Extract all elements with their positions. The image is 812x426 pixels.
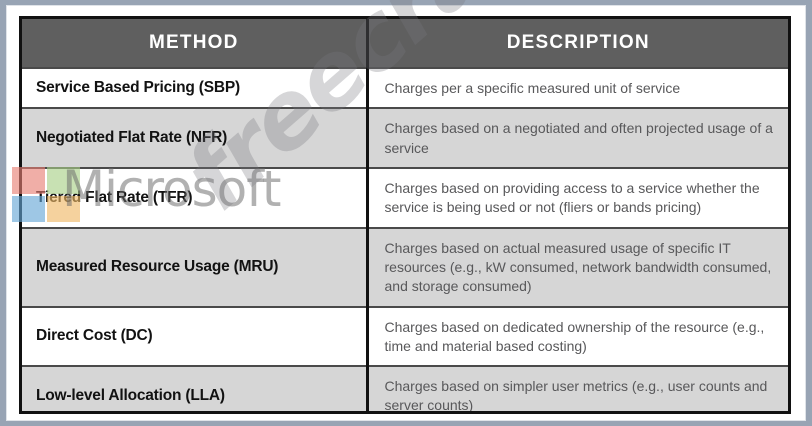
table-row: Negotiated Flat Rate (NFR)Charges based …	[22, 108, 788, 168]
description-cell: Charges based on dedicated ownership of …	[367, 307, 788, 367]
column-header-method: METHOD	[22, 19, 367, 68]
page-frame: METHOD DESCRIPTION Service Based Pricing…	[0, 0, 812, 426]
description-cell: Charges based on providing access to a s…	[367, 168, 788, 228]
table-row: Tiered Flat Rate (TFR)Charges based on p…	[22, 168, 788, 228]
method-cell: Tiered Flat Rate (TFR)	[22, 168, 367, 228]
description-cell: Charges based on simpler user metrics (e…	[367, 366, 788, 414]
method-cell: Direct Cost (DC)	[22, 307, 367, 367]
table-body: Service Based Pricing (SBP)Charges per a…	[22, 68, 788, 414]
column-header-description: DESCRIPTION	[367, 19, 788, 68]
method-cell: Service Based Pricing (SBP)	[22, 68, 367, 108]
method-cell: Low-level Allocation (LLA)	[22, 366, 367, 414]
methods-table-container: METHOD DESCRIPTION Service Based Pricing…	[19, 16, 791, 414]
document-sheet: METHOD DESCRIPTION Service Based Pricing…	[7, 6, 805, 420]
description-cell: Charges per a specific measured unit of …	[367, 68, 788, 108]
table-row: Measured Resource Usage (MRU)Charges bas…	[22, 228, 788, 307]
method-cell: Negotiated Flat Rate (NFR)	[22, 108, 367, 168]
method-cell: Measured Resource Usage (MRU)	[22, 228, 367, 307]
table-row: Service Based Pricing (SBP)Charges per a…	[22, 68, 788, 108]
table-header: METHOD DESCRIPTION	[22, 19, 788, 68]
table-row: Direct Cost (DC)Charges based on dedicat…	[22, 307, 788, 367]
methods-table: METHOD DESCRIPTION Service Based Pricing…	[22, 19, 788, 414]
description-cell: Charges based on actual measured usage o…	[367, 228, 788, 307]
table-row: Low-level Allocation (LLA)Charges based …	[22, 366, 788, 414]
table-header-row: METHOD DESCRIPTION	[22, 19, 788, 68]
description-cell: Charges based on a negotiated and often …	[367, 108, 788, 168]
